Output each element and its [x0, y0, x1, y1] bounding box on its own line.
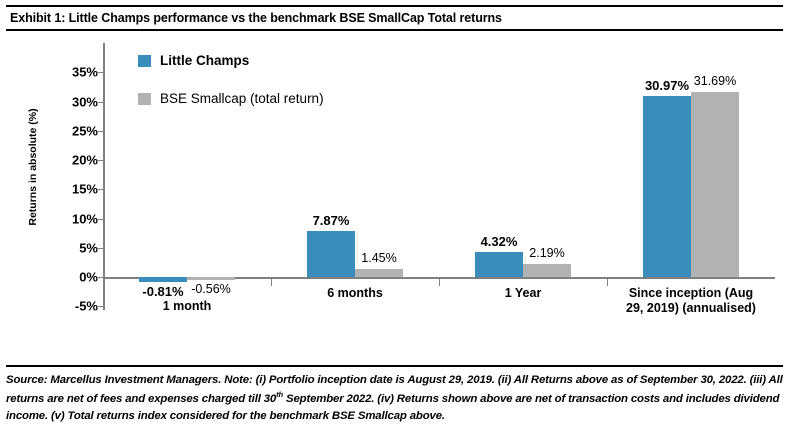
bar-value-label: 4.32% — [458, 235, 540, 248]
y-axis-tick-mark — [98, 248, 104, 249]
page-title: Exhibit 1: Little Champs performance vs … — [6, 11, 502, 25]
y-axis-tick-label: 0% — [46, 271, 98, 284]
bar-little-champs[interactable] — [643, 96, 691, 277]
y-axis-tick-mark — [98, 102, 104, 103]
legend-item-little-champs: Little Champs — [138, 53, 324, 68]
y-axis-line — [103, 43, 105, 310]
exhibit-title-band: Exhibit 1: Little Champs performance vs … — [6, 5, 783, 31]
bar-value-label: 7.87% — [290, 214, 372, 227]
x-axis-tick-mark — [439, 279, 440, 286]
y-axis-tick-mark — [98, 219, 104, 220]
chart-legend: Little Champs BSE Smallcap (total return… — [138, 53, 324, 129]
y-axis-tick-label: 15% — [46, 183, 98, 196]
y-axis-tick-label: -5% — [46, 300, 98, 313]
bar-value-label: -0.56% — [170, 283, 252, 296]
x-axis-category-label: Since inception (Aug29, 2019) (annualise… — [597, 286, 785, 317]
y-axis-tick-labels: 35%30%25%20%15%10%5%0%-5% — [40, 33, 98, 333]
y-axis-tick-mark — [98, 72, 104, 73]
bar-value-label: 2.19% — [506, 247, 588, 260]
source-note-superscript: th — [276, 390, 283, 399]
y-axis-tick-label: 25% — [46, 124, 98, 137]
footnote-band: Source: Marcellus Investment Managers. N… — [6, 365, 783, 426]
x-axis-tick-mark — [607, 279, 608, 286]
x-axis-category-label: 6 months — [261, 286, 449, 301]
legend-swatch-little-champs — [138, 55, 151, 67]
y-axis-tick-label: 35% — [46, 66, 98, 79]
x-axis-tick-mark — [271, 279, 272, 286]
y-axis-tick-mark — [98, 189, 104, 190]
y-axis-tick-mark — [98, 160, 104, 161]
bar-bse-smallcap[interactable] — [355, 269, 403, 277]
y-axis-tick-mark — [98, 277, 104, 278]
y-axis-tick-label: 30% — [46, 95, 98, 108]
chart-container: Returns in absolute (%) 35%30%25%20%15%1… — [0, 33, 789, 360]
x-axis-category-label: 1 Year — [429, 286, 617, 301]
legend-label-bse-smallcap: BSE Smallcap (total return) — [160, 91, 324, 106]
x-axis-category-label: 1 month — [93, 299, 281, 314]
bar-bse-smallcap[interactable] — [187, 277, 235, 280]
y-axis-tick-mark — [98, 131, 104, 132]
bar-bse-smallcap[interactable] — [523, 264, 571, 277]
bar-bse-smallcap[interactable] — [691, 92, 739, 277]
bar-little-champs[interactable] — [139, 277, 187, 282]
legend-item-bse-smallcap: BSE Smallcap (total return) — [138, 91, 324, 106]
y-axis-tick-label: 10% — [46, 212, 98, 225]
legend-label-little-champs: Little Champs — [160, 53, 249, 68]
legend-swatch-bse-smallcap — [138, 93, 151, 105]
bar-value-label: 1.45% — [338, 252, 420, 265]
y-axis-title: Returns in absolute (%) — [27, 82, 39, 252]
source-note: Source: Marcellus Investment Managers. N… — [6, 372, 783, 426]
y-axis-tick-label: 5% — [46, 241, 98, 254]
y-axis-tick-label: 20% — [46, 154, 98, 167]
bar-value-label: 31.69% — [674, 75, 756, 88]
